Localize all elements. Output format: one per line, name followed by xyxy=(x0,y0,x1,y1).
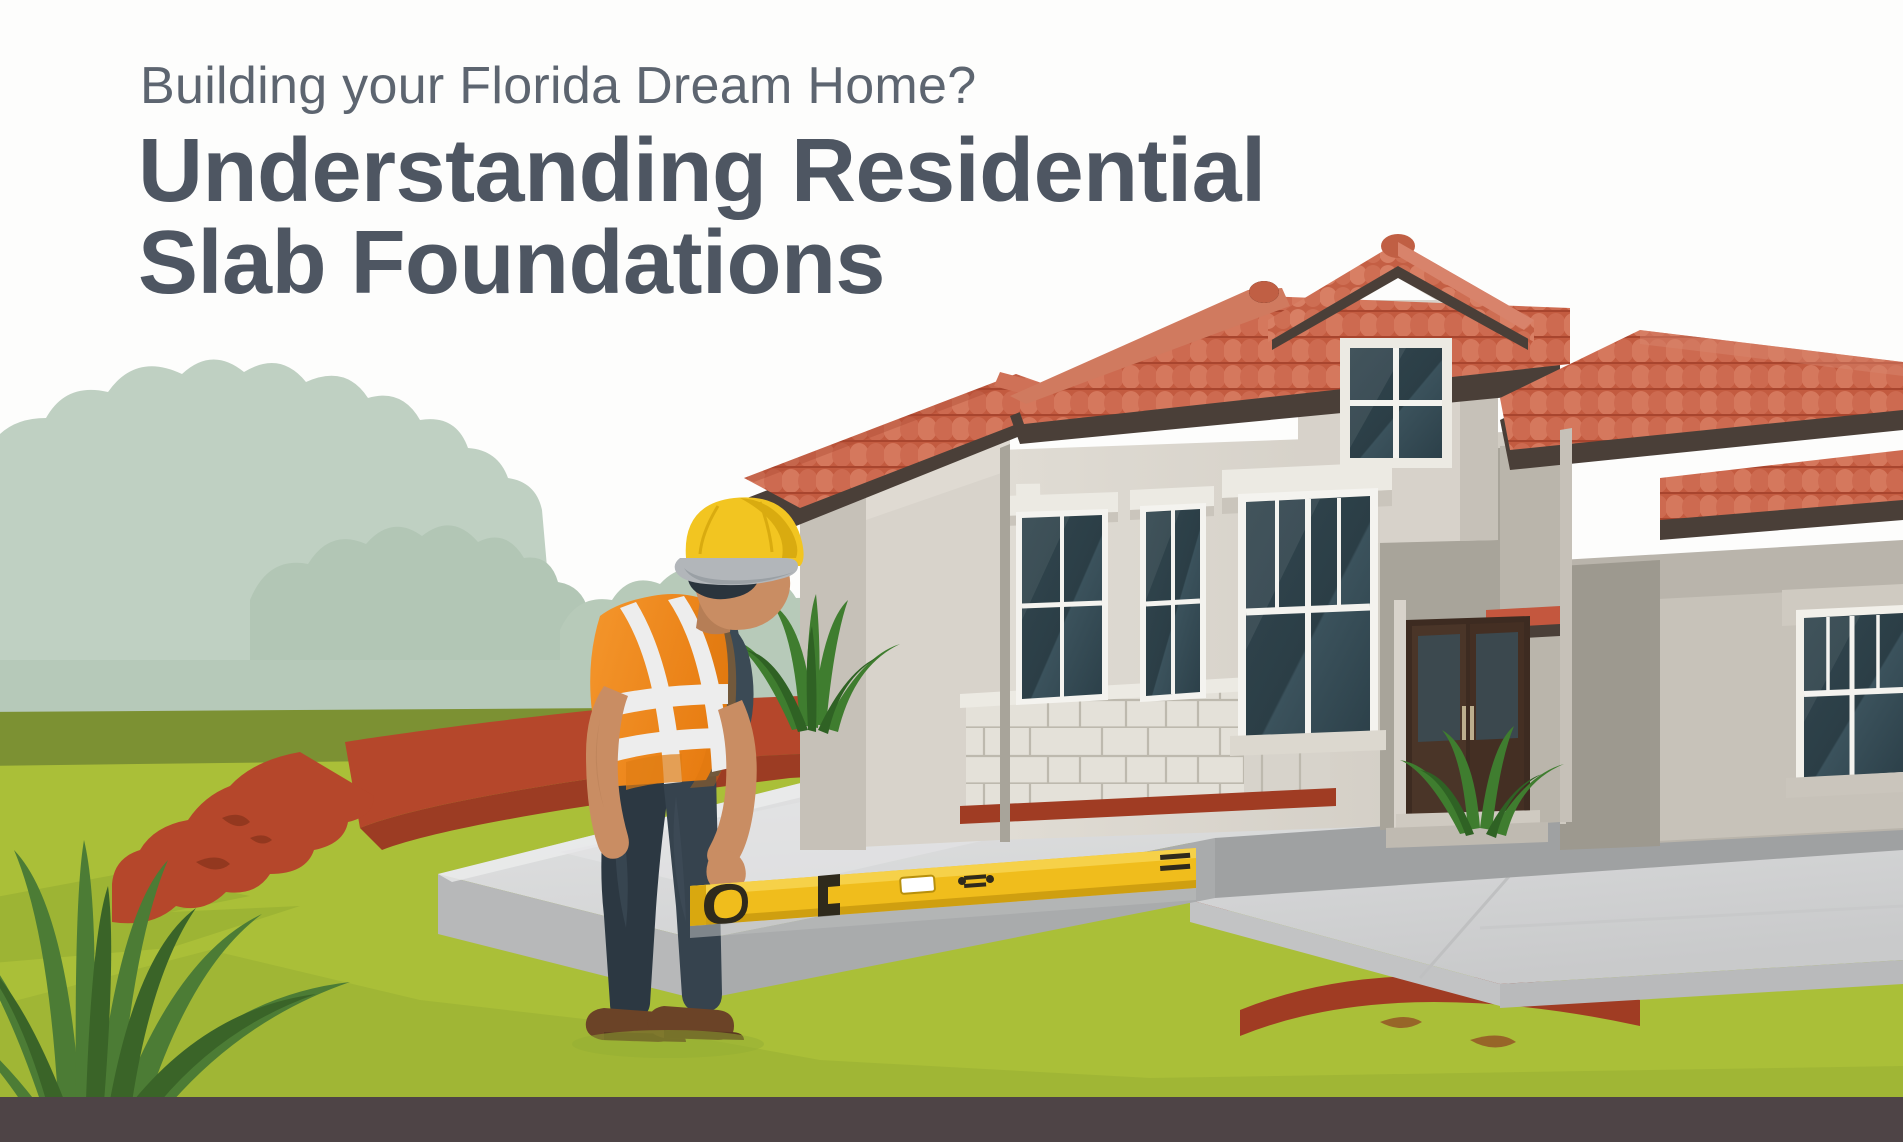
window-dormer xyxy=(1340,338,1452,468)
level-bubble-vial xyxy=(900,875,935,894)
window-left-b xyxy=(1130,486,1214,702)
window-right-wing xyxy=(1782,584,1903,798)
scene-illustration xyxy=(0,0,1903,1142)
hero-banner: Building your Florida Dream Home? Unders… xyxy=(0,0,1903,1142)
window-left-a xyxy=(1004,484,1118,705)
footer-bar xyxy=(0,1097,1903,1142)
worker-ground-shadow xyxy=(572,1030,764,1058)
window-front-large xyxy=(1222,462,1392,756)
